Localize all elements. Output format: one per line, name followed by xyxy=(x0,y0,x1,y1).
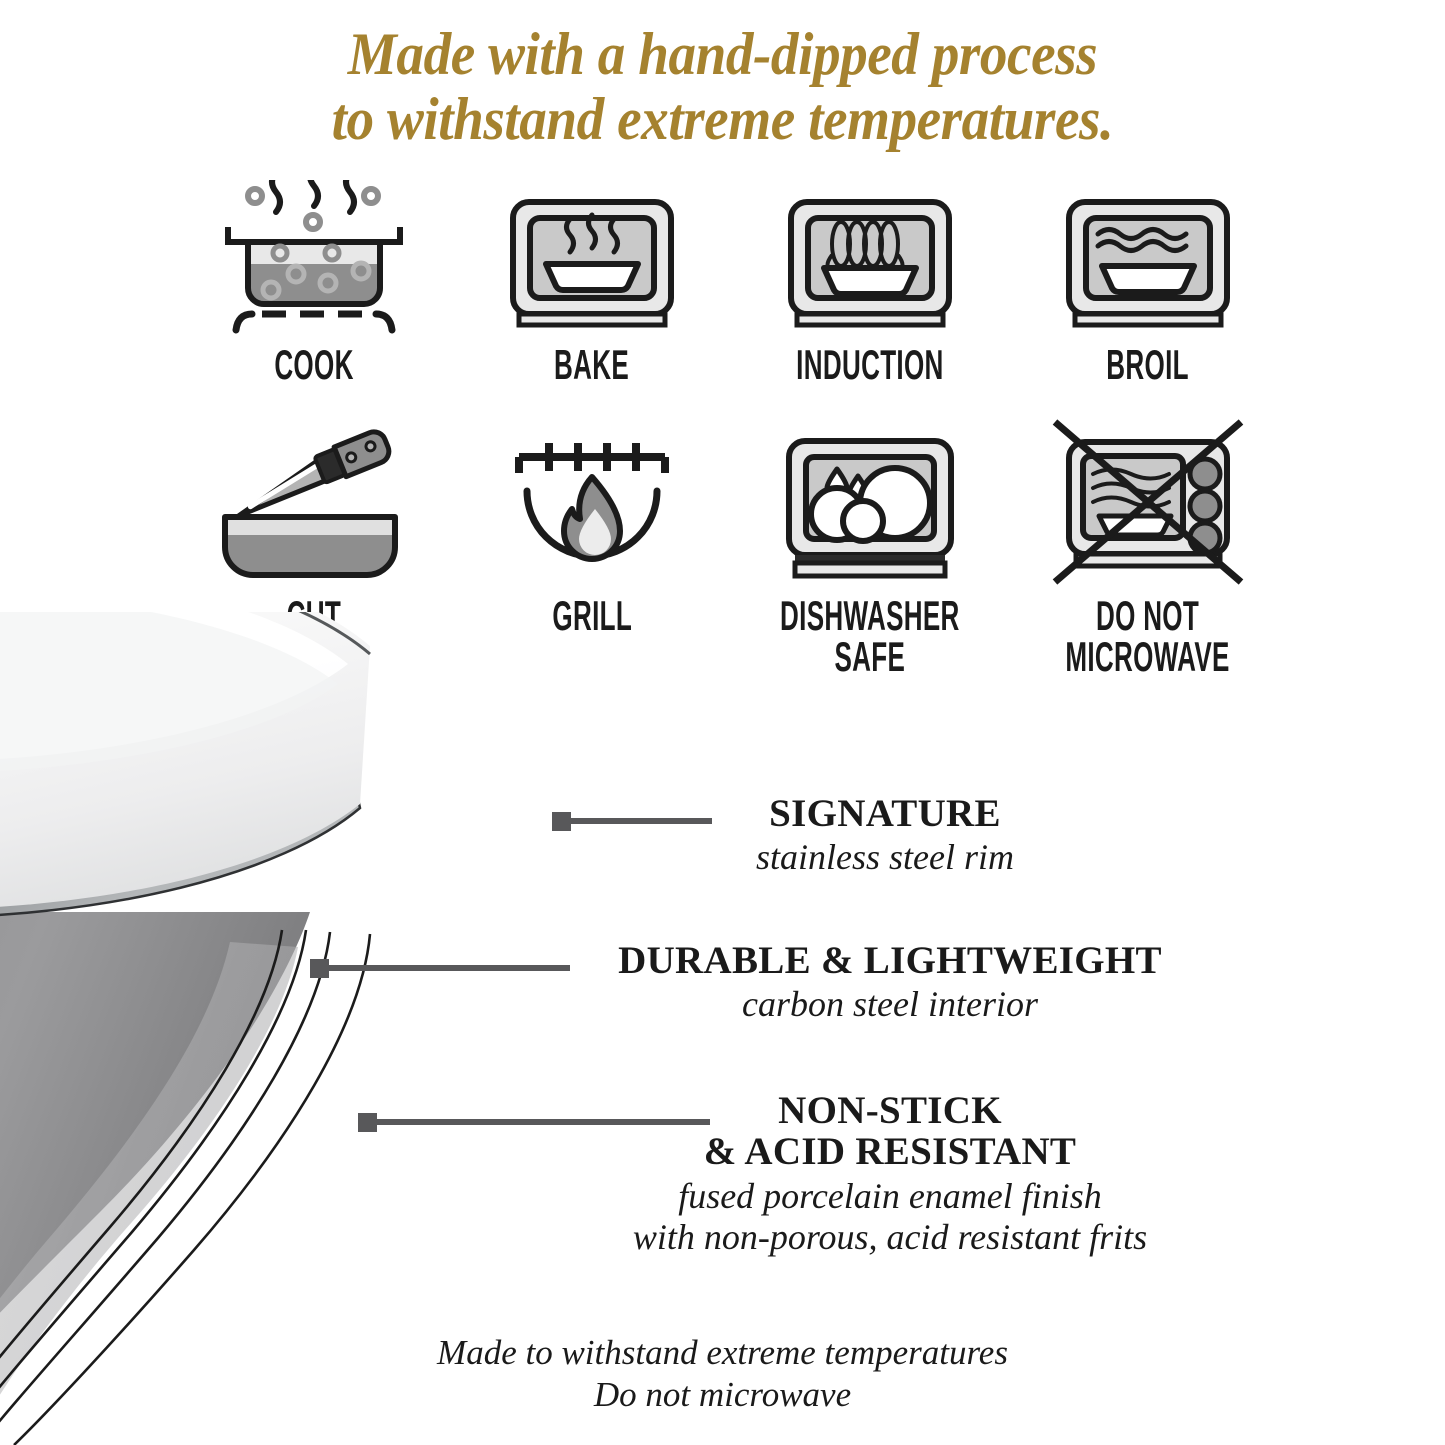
icon-cell-broil: BROIL xyxy=(1009,180,1287,385)
callout-nonstick-title: NON-STICK & ACID RESISTANT xyxy=(540,1090,1240,1173)
icon-label-cook: COOK xyxy=(274,344,353,385)
no-microwave-icon xyxy=(1043,421,1253,591)
icon-cell-no-microwave: DO NOT MICROWAVE xyxy=(1009,421,1287,677)
cooking-pot-icon xyxy=(214,180,414,340)
dishwasher-icon xyxy=(775,421,965,591)
icon-cell-induction: INDUCTION xyxy=(731,180,1009,385)
capability-icon-grid: COOK BA xyxy=(175,180,1290,677)
icon-label-dishwasher: DISHWASHER SAFE xyxy=(780,595,960,677)
icon-cell-dishwasher: DISHWASHER SAFE xyxy=(731,421,1009,677)
callout-nonstick: NON-STICK & ACID RESISTANT fused porcela… xyxy=(540,1090,1240,1258)
headline-line-2: to withstand extreme temperatures. xyxy=(58,87,1387,152)
callout-durable-title: DURABLE & LIGHTWEIGHT xyxy=(585,940,1195,981)
callout-signature-subtitle: stainless steel rim xyxy=(640,837,1130,878)
icon-label-bake: BAKE xyxy=(554,344,629,385)
icon-row-1: COOK BA xyxy=(175,180,1290,385)
footer-care-note: Made to withstand extreme temperatures D… xyxy=(0,1332,1445,1416)
leader-line-body xyxy=(320,965,570,971)
oven-bake-icon xyxy=(497,180,687,340)
product-infographic: Made with a hand-dipped process to withs… xyxy=(0,0,1445,1445)
headline-line-1: Made with a hand-dipped process xyxy=(58,22,1387,87)
broiler-element-icon xyxy=(1053,180,1243,340)
icon-label-broil: BROIL xyxy=(1107,344,1190,385)
knife-over-pan-icon xyxy=(209,421,419,591)
callout-durable-subtitle: carbon steel interior xyxy=(585,984,1195,1025)
induction-coil-icon xyxy=(775,180,965,340)
callout-signature: SIGNATURE stainless steel rim xyxy=(640,793,1130,878)
icon-cell-cook: COOK xyxy=(175,180,453,385)
page-title: Made with a hand-dipped process to withs… xyxy=(58,22,1387,152)
icon-cell-bake: BAKE xyxy=(453,180,731,385)
callout-durable: DURABLE & LIGHTWEIGHT carbon steel inter… xyxy=(585,940,1195,1025)
callout-signature-title: SIGNATURE xyxy=(640,793,1130,834)
flame-grill-icon xyxy=(497,421,687,591)
pan-cutaway-illustration xyxy=(0,612,670,1445)
icon-label-induction: INDUCTION xyxy=(796,344,943,385)
callout-nonstick-subtitle: fused porcelain enamel finish with non-p… xyxy=(540,1176,1240,1258)
icon-label-no-microwave: DO NOT MICROWAVE xyxy=(1066,595,1230,677)
